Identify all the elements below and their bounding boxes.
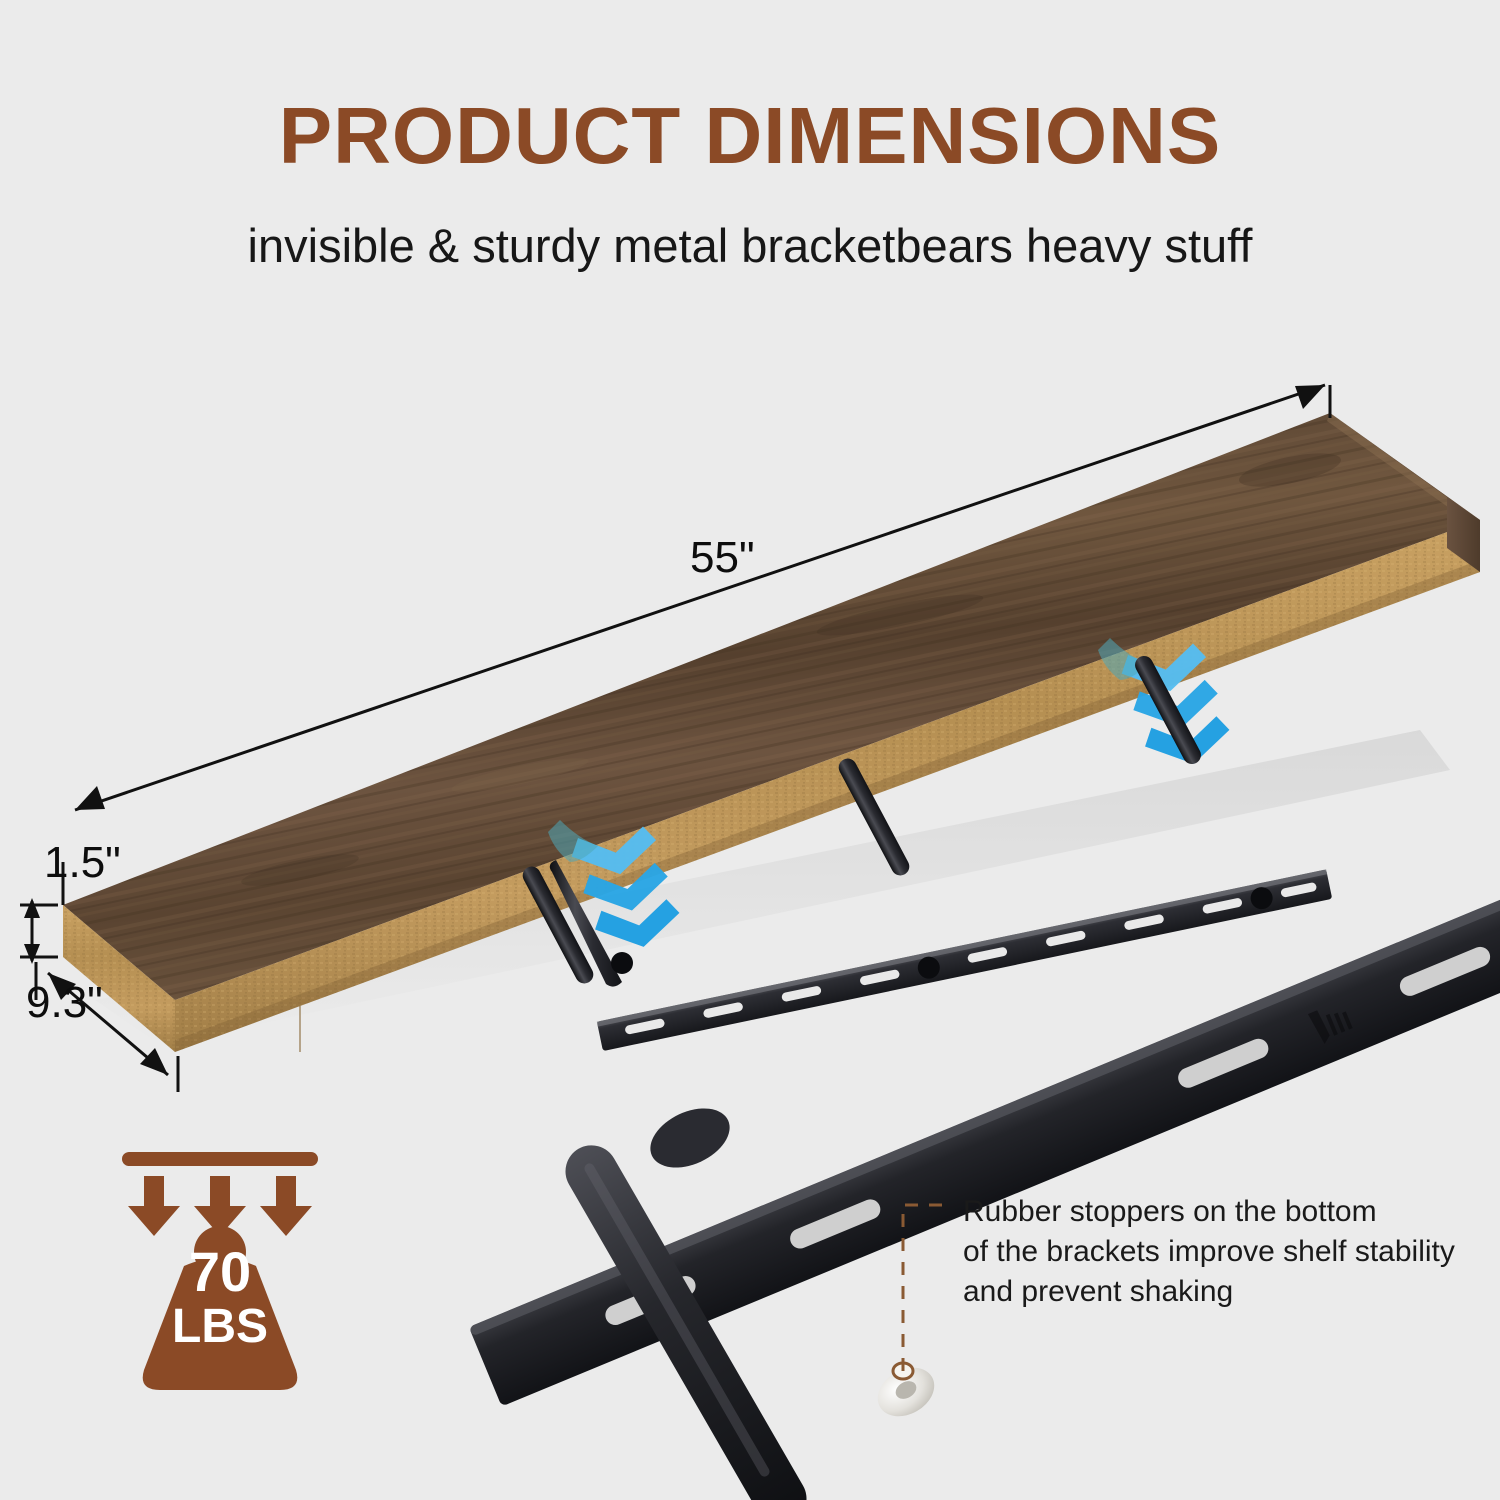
rubber-stopper-callout: Rubber stoppers on the bottom of the bra… (963, 1192, 1463, 1312)
weight-unit: LBS (110, 1303, 330, 1351)
callout-line-2: of the brackets improve shelf stability (963, 1232, 1463, 1272)
page-title: PRODUCT DIMENSIONS (0, 96, 1500, 176)
rubber-stopper-icon (869, 1358, 943, 1426)
page-subtitle: invisible & sturdy metal bracketbears he… (0, 222, 1500, 269)
wood-shelf-image (63, 413, 1480, 1052)
weight-value: 70 (110, 1244, 330, 1300)
bracket-support-rod (556, 1097, 816, 1500)
dimension-label-depth: 9.3" (26, 978, 103, 1028)
dimension-lines (20, 385, 1330, 1092)
product-dimensions-infographic: PRODUCT DIMENSIONS invisible & sturdy me… (0, 0, 1500, 1500)
bracket-rod (520, 653, 1205, 987)
dimension-label-thickness: 1.5" (44, 838, 121, 888)
shelf-shadow (95, 730, 1450, 1045)
metal-bracket-image (520, 653, 1333, 1051)
brand-stamp-icon (1308, 1000, 1354, 1045)
dimension-label-length: 55" (690, 533, 755, 583)
weight-capacity-badge: 70 LBS (110, 1148, 330, 1398)
callout-line-3: and prevent shaking (963, 1272, 1463, 1312)
chevron-insert-icon (548, 638, 1235, 958)
load-bar-icon (122, 1152, 318, 1166)
callout-line-1: Rubber stoppers on the bottom (963, 1192, 1463, 1232)
metal-bracket-closeup (469, 856, 1500, 1500)
callout-leader-line (903, 1205, 952, 1371)
